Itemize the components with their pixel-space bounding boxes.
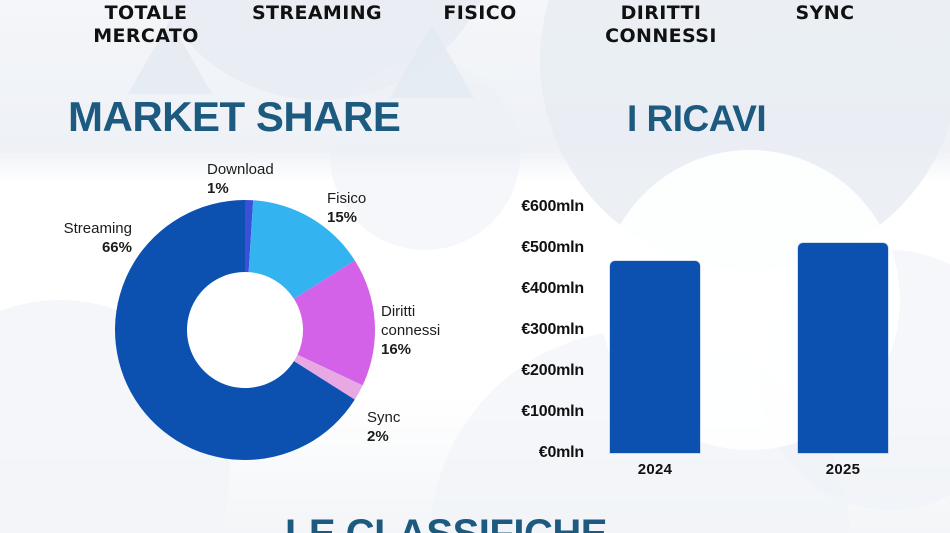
bar-x-label-2024: 2024 — [610, 461, 700, 479]
y-axis-tick-label: €100mln — [492, 403, 584, 421]
donut-label-diritti-connessi: Diritticonnessi16% — [381, 302, 440, 359]
market-share-donut-chart — [112, 197, 378, 463]
strip-label-totale-mercato: TOTALE MERCATO — [66, 2, 226, 48]
y-axis-tick-label: €600mln — [492, 198, 584, 216]
category-strip: TOTALE MERCATO STREAMING FISICO DIRITTI … — [0, 0, 950, 60]
market-share-title: MARKET SHARE — [68, 94, 400, 140]
y-axis-tick-label: €500mln — [492, 239, 584, 257]
donut-label-sync: Sync2% — [367, 408, 400, 446]
strip-label-fisico: FISICO — [414, 2, 546, 25]
bar-2024[interactable] — [610, 261, 700, 453]
infographic-canvas: TOTALE MERCATO STREAMING FISICO DIRITTI … — [0, 0, 950, 533]
y-axis-tick-label: €200mln — [492, 362, 584, 380]
bar-x-label-2025: 2025 — [798, 461, 888, 479]
strip-label-diritti-connessi: DIRITTI CONNESSI — [570, 2, 752, 48]
classifiche-title: LE CLASSIFICHE — [285, 512, 607, 533]
y-axis-tick-label: €400mln — [492, 280, 584, 298]
donut-label-fisico: Fisico15% — [327, 189, 366, 227]
ricavi-bar-chart: €600mln€500mln€400mln€300mln€200mln€100m… — [492, 140, 912, 475]
y-axis-tick-label: €0mln — [492, 444, 584, 462]
donut-svg — [112, 197, 378, 463]
donut-label-streaming: Streaming66% — [18, 219, 132, 257]
bar-2025[interactable] — [798, 243, 888, 453]
strip-label-sync: SYNC — [760, 2, 890, 25]
ricavi-title: I RICAVI — [627, 98, 766, 140]
bar-chart-y-axis: €600mln€500mln€400mln€300mln€200mln€100m… — [492, 140, 584, 475]
y-axis-tick-label: €300mln — [492, 321, 584, 339]
strip-label-streaming: STREAMING — [232, 2, 402, 25]
donut-label-download: Download1% — [207, 160, 274, 198]
